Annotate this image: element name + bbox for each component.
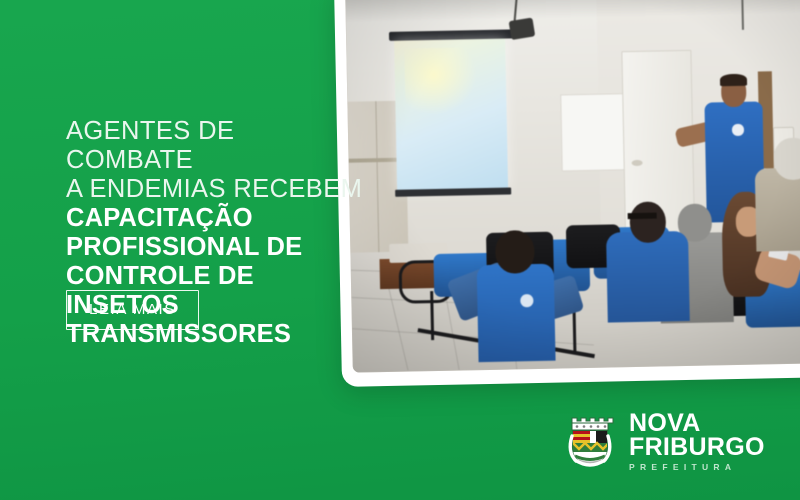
read-more-button[interactable]: LEIA MAIS [66,290,199,330]
headline-line-4: PROFISSIONAL DE [66,233,366,262]
headline-line-3: CAPACITAÇÃO [66,204,366,233]
banner-root: AGENTES DE COMBATE A ENDEMIAS RECEBEM CA… [0,0,800,500]
photo-scene [345,0,800,373]
logo-line-nova: NOVA [629,411,765,435]
photo-image [345,0,800,373]
logo-text: NOVA FRIBURGO PREFEITURA [629,411,765,471]
headline-line-2: A ENDEMIAS RECEBEM [66,175,366,204]
logo-line-friburgo: FRIBURGO [629,435,765,459]
nova-friburgo-coat-of-arms-icon [562,410,618,472]
headline-line-1: AGENTES DE COMBATE [66,117,366,175]
photo-card [334,0,800,387]
logo[interactable]: NOVA FRIBURGO PREFEITURA [562,410,765,472]
logo-line-prefeitura: PREFEITURA [629,463,765,471]
